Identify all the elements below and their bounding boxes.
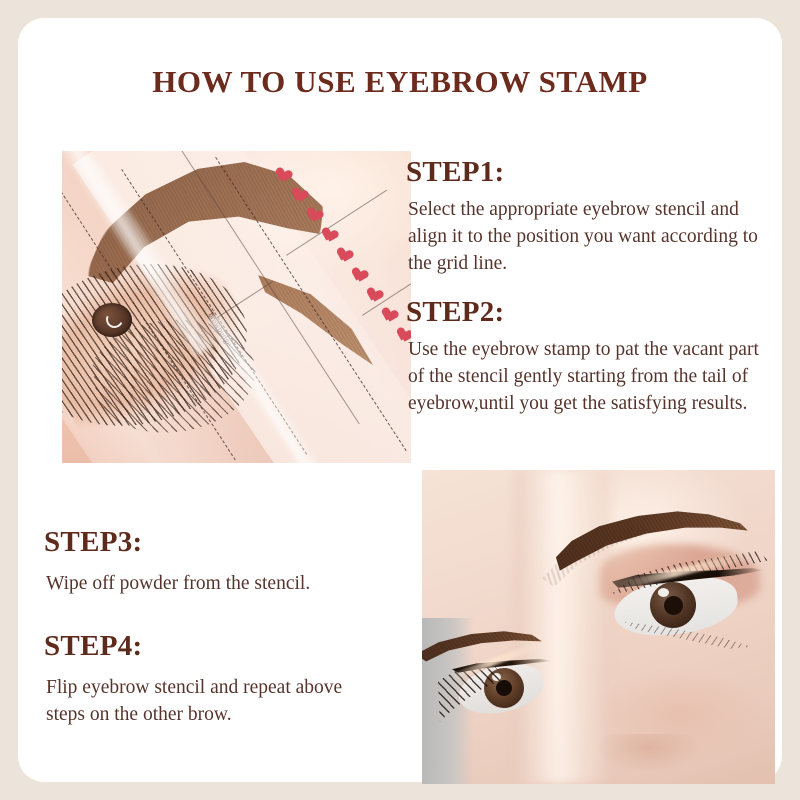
page-title: HOW TO USE EYEBROW STAMP <box>18 64 782 100</box>
step1-heading: STEP1: <box>406 156 505 189</box>
step3-body: Wipe off powder from the stencil. <box>46 570 406 597</box>
poster-page: HOW TO USE EYEBROW STAMP <box>0 0 800 800</box>
step1-body: Select the appropriate eyebrow stencil a… <box>408 196 770 277</box>
pupil-left <box>496 680 512 696</box>
content-card: HOW TO USE EYEBROW STAMP <box>18 18 782 782</box>
step2-body: Use the eyebrow stamp to pat the vacant … <box>408 336 768 417</box>
step4-body: Flip eyebrow stencil and repeat above st… <box>46 674 376 728</box>
step3-heading: STEP3: <box>44 526 143 559</box>
step2-heading: STEP2: <box>406 296 505 329</box>
photo-finished-brow <box>422 470 775 784</box>
pupil-right <box>664 596 683 615</box>
photo-stencil-on-brow: browbudge <box>62 151 411 463</box>
nose-shading <box>598 734 718 784</box>
step4-heading: STEP4: <box>44 630 143 663</box>
eye-highlight-right <box>658 588 669 597</box>
